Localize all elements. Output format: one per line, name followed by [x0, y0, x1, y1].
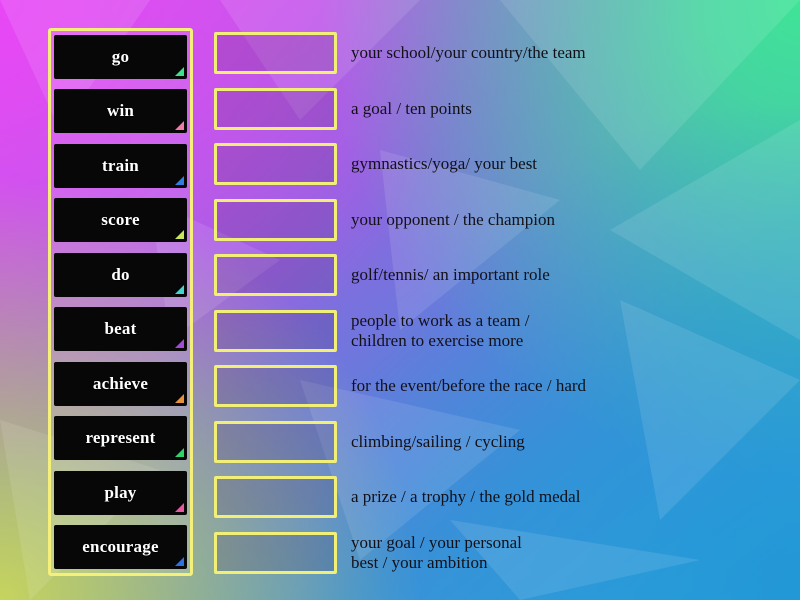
- word-card[interactable]: beat: [54, 307, 187, 351]
- word-card-label: achieve: [93, 374, 148, 394]
- answer-text: people to work as a team / children to e…: [351, 311, 529, 351]
- answer-row: a goal / ten points: [214, 86, 774, 132]
- drop-zone[interactable]: [214, 421, 337, 463]
- drop-zone[interactable]: [214, 32, 337, 74]
- resize-corner-icon: [175, 339, 184, 348]
- word-card[interactable]: score: [54, 198, 187, 242]
- answer-text: your school/your country/the team: [351, 43, 586, 63]
- resize-corner-icon: [175, 230, 184, 239]
- resize-corner-icon: [175, 285, 184, 294]
- drop-zone[interactable]: [214, 254, 337, 296]
- word-card-label: score: [101, 210, 139, 230]
- answer-row: climbing/sailing / cycling: [214, 419, 774, 465]
- answer-row: gymnastics/yoga/ your best: [214, 141, 774, 187]
- resize-corner-icon: [175, 67, 184, 76]
- word-card-label: train: [102, 156, 139, 176]
- word-card-label: represent: [85, 428, 155, 448]
- answer-text: your goal / your personal best / your am…: [351, 533, 522, 573]
- word-card[interactable]: achieve: [54, 362, 187, 406]
- drop-zone[interactable]: [214, 476, 337, 518]
- answer-row: for the event/before the race / hard: [214, 363, 774, 409]
- drop-zone[interactable]: [214, 532, 337, 574]
- word-card[interactable]: play: [54, 471, 187, 515]
- answer-row: golf/tennis/ an important role: [214, 252, 774, 298]
- answer-row: your opponent / the champion: [214, 197, 774, 243]
- answer-row: your goal / your personal best / your am…: [214, 530, 774, 576]
- drop-zone[interactable]: [214, 143, 337, 185]
- drop-zone[interactable]: [214, 365, 337, 407]
- word-card-label: play: [105, 483, 137, 503]
- answer-text: a prize / a trophy / the gold medal: [351, 487, 580, 507]
- answer-text: golf/tennis/ an important role: [351, 265, 550, 285]
- answer-row: your school/your country/the team: [214, 30, 774, 76]
- word-card[interactable]: do: [54, 253, 187, 297]
- word-card[interactable]: go: [54, 35, 187, 79]
- answer-row: a prize / a trophy / the gold medal: [214, 474, 774, 520]
- drop-zone[interactable]: [214, 88, 337, 130]
- answer-text: climbing/sailing / cycling: [351, 432, 525, 452]
- word-card[interactable]: train: [54, 144, 187, 188]
- resize-corner-icon: [175, 557, 184, 566]
- drop-zone[interactable]: [214, 310, 337, 352]
- word-card-label: go: [112, 47, 129, 67]
- resize-corner-icon: [175, 503, 184, 512]
- answer-text: your opponent / the champion: [351, 210, 555, 230]
- word-card-label: encourage: [82, 537, 158, 557]
- answer-text: for the event/before the race / hard: [351, 376, 586, 396]
- resize-corner-icon: [175, 394, 184, 403]
- answer-text: gymnastics/yoga/ your best: [351, 154, 537, 174]
- answer-rows-list: your school/your country/the teama goal …: [214, 30, 774, 576]
- resize-corner-icon: [175, 176, 184, 185]
- answer-row: people to work as a team / children to e…: [214, 308, 774, 354]
- word-card[interactable]: win: [54, 89, 187, 133]
- resize-corner-icon: [175, 448, 184, 457]
- draggable-word-column[interactable]: gowintrainscoredobeatachieverepresentpla…: [48, 28, 193, 576]
- word-card-label: beat: [105, 319, 137, 339]
- word-card-label: do: [111, 265, 129, 285]
- word-card[interactable]: represent: [54, 416, 187, 460]
- answer-text: a goal / ten points: [351, 99, 472, 119]
- word-card-label: win: [107, 101, 134, 121]
- drop-zone[interactable]: [214, 199, 337, 241]
- resize-corner-icon: [175, 121, 184, 130]
- word-card[interactable]: encourage: [54, 525, 187, 569]
